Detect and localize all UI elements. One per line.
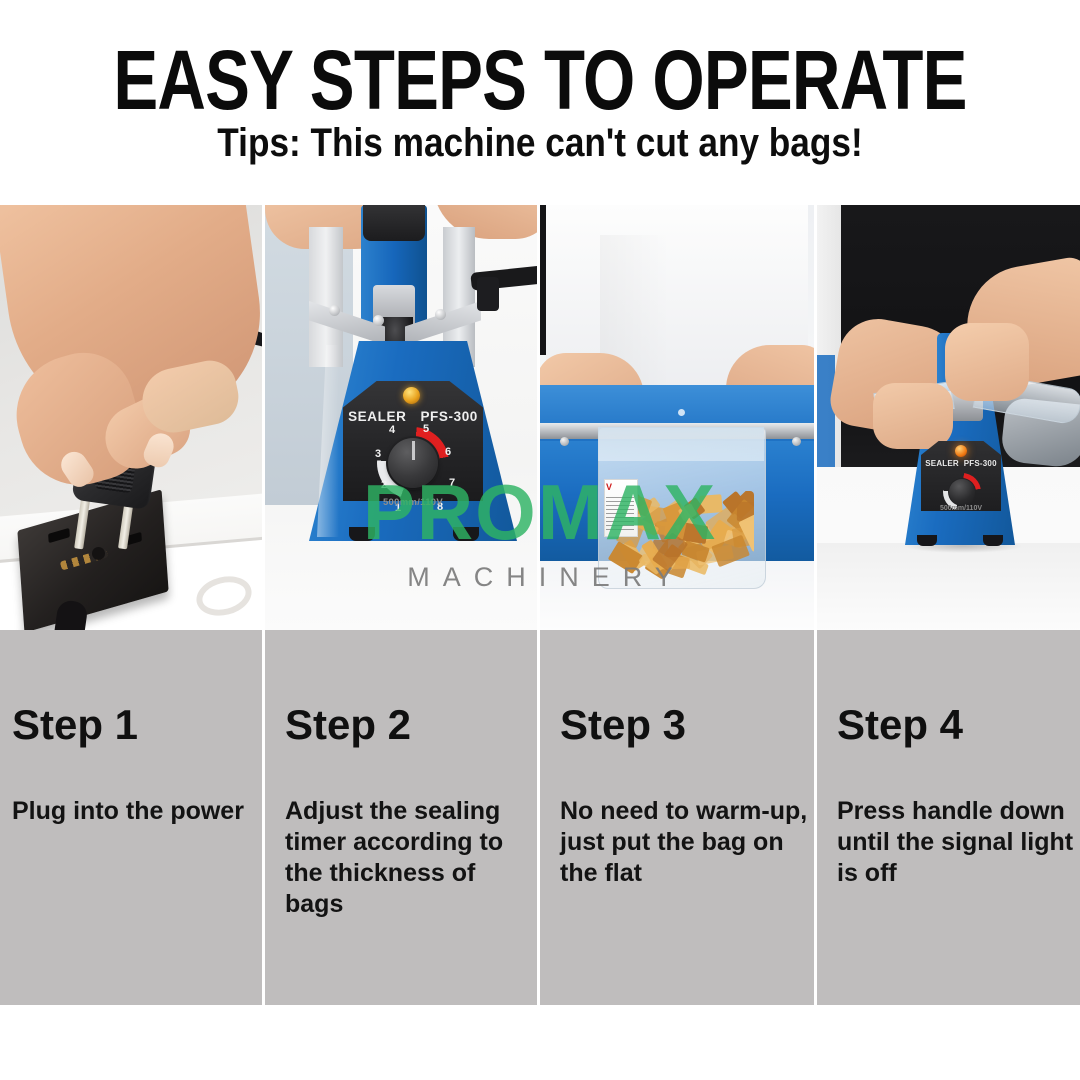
dial-number-5: 5 <box>423 423 429 435</box>
signal-light-icon <box>955 445 967 457</box>
label-logo-icon: V <box>606 482 612 492</box>
dial-number-7: 7 <box>449 477 455 489</box>
brand-label: SEALER <box>925 459 959 468</box>
rubber-foot-left <box>349 527 375 541</box>
step-description: Press handle down until the signal light… <box>837 796 1075 889</box>
rubber-foot-right <box>453 527 479 541</box>
dial-number-2: 2 <box>381 479 387 491</box>
model-label: PFS-300 <box>964 459 997 468</box>
panel-labels: SEALER PFS-300 <box>921 459 1001 468</box>
steps-band: Step 1 Plug into the power Step 2 Adjust… <box>0 630 1080 1005</box>
rubber-foot-left <box>917 535 937 546</box>
step-description: Plug into the power <box>12 796 260 827</box>
dial-knob[interactable] <box>949 479 975 505</box>
screw <box>792 437 801 446</box>
step-photo-1 <box>0 205 265 630</box>
signal-light-icon <box>403 387 420 404</box>
dial-number-6: 6 <box>445 446 451 458</box>
timer-dial[interactable] <box>377 427 449 499</box>
step-photo-2: SEALERPFS-300 1 2 3 4 5 6 7 8 500mm/110V <box>265 205 540 630</box>
step-cell-2: Step 2 Adjust the sealing timer accordin… <box>265 630 540 1005</box>
plastic-bag-opening <box>598 427 764 461</box>
voltage-label: 500mm/110V <box>343 497 483 508</box>
snack-piece <box>608 541 644 574</box>
brand-label: SEALER <box>348 409 406 424</box>
step-photo-4: SEALER PFS-300 500mm/110V <box>817 205 1080 630</box>
screw <box>329 305 340 316</box>
screw <box>373 315 384 326</box>
handle-knob <box>363 205 425 241</box>
model-label: PFS-300 <box>420 409 477 424</box>
step-title: Step 3 <box>560 702 686 748</box>
label-text-lines <box>606 497 634 531</box>
step-description: No need to warm-up, just put the bag on … <box>560 796 810 889</box>
step-description: Adjust the sealing timer according to th… <box>285 796 531 920</box>
table-surface <box>817 543 1080 630</box>
header: EASY STEPS TO OPERATE Tips: This machine… <box>0 0 1080 205</box>
page-title: EASY STEPS TO OPERATE <box>108 44 972 116</box>
hand-pressing-handle <box>945 323 1029 401</box>
page-subtitle: Tips: This machine can't cut any bags! <box>65 120 1015 166</box>
step-cell-3: Step 3 No need to warm-up, just put the … <box>540 630 817 1005</box>
rubber-foot-right <box>983 535 1003 546</box>
dial-pointer <box>412 441 415 460</box>
step-photo-3: V <box>540 205 817 630</box>
photo-band: SEALERPFS-300 1 2 3 4 5 6 7 8 500mm/110V <box>0 205 1080 630</box>
step-cell-4: Step 4 Press handle down until the signa… <box>817 630 1080 1005</box>
cord-connector <box>477 277 499 311</box>
dial-number-4: 4 <box>389 424 395 436</box>
screw <box>560 437 569 446</box>
step-title: Step 2 <box>285 702 411 748</box>
step-cell-1: Step 1 Plug into the power <box>0 630 265 1005</box>
screw <box>435 309 446 320</box>
sealer-top-dot <box>678 409 685 416</box>
dial-number-3: 3 <box>375 448 381 460</box>
panel-labels: SEALERPFS-300 <box>343 409 483 424</box>
hand-holding-bag <box>873 383 953 449</box>
step-title: Step 4 <box>837 702 963 748</box>
socket-round-hole <box>92 547 105 560</box>
step-title: Step 1 <box>12 702 138 748</box>
voltage-label: 500mm/110V <box>921 505 1001 512</box>
